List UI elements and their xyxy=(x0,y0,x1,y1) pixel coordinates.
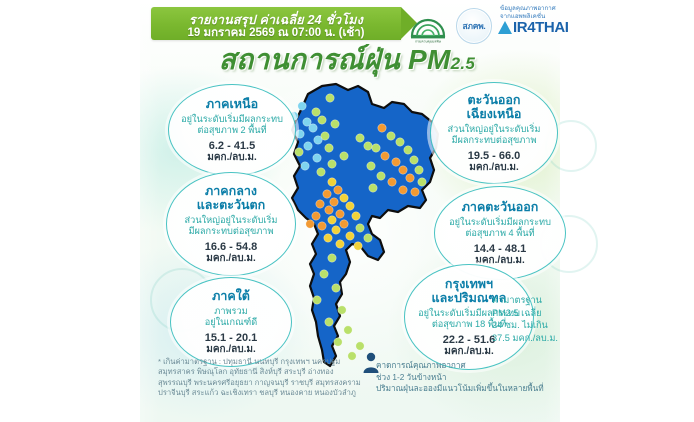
air4thai-triangle-icon xyxy=(498,21,512,34)
footer-right-line2: ช่วง 1-2 วันข้างหน้า xyxy=(376,372,591,384)
region-desc-east-line2: ต่อสุขภาพ 4 พื้นที่ xyxy=(465,228,534,240)
region-value-north: 6.2 - 41.5 xyxy=(209,140,255,153)
station-dot xyxy=(367,162,375,170)
region-value-south: 15.1 - 20.1 xyxy=(205,332,258,345)
station-dot xyxy=(320,270,328,278)
station-dot xyxy=(334,338,342,346)
region-title-bangkok-line1: กรุงเทพฯ xyxy=(445,277,493,291)
station-dot xyxy=(318,116,326,124)
station-dot xyxy=(344,326,352,334)
station-dot xyxy=(410,156,418,164)
station-dot xyxy=(372,144,380,152)
region-bubble-south[interactable]: ภาคใต้ ภาพรวม อยู่ในเกณฑ์ดี 15.1 - 20.1 … xyxy=(170,277,292,367)
region-title-northeast-line1: ตะวันออก xyxy=(468,93,521,107)
region-title-central-west-line1: ภาคกลาง xyxy=(205,184,257,198)
station-dot xyxy=(346,202,354,210)
region-bubble-central-west[interactable]: ภาคกลาง และตะวันตก ส่วนใหญ่อยู่ในระดับเร… xyxy=(166,172,296,276)
station-dot xyxy=(313,154,321,162)
region-bubble-northeast[interactable]: ตะวันออก เฉียงเหนือ ส่วนใหญ่อยู่ในระดับเ… xyxy=(430,82,558,184)
station-dot xyxy=(323,190,331,198)
standard-note: ค่ามาตรฐาน PM2.5 เฉลี่ย 24 ซม. ไม่เกิน 3… xyxy=(492,294,604,344)
station-dot xyxy=(406,174,414,182)
region-desc-central-west-line1: ส่วนใหญ่อยู่ในระดับเริ่ม xyxy=(185,215,278,227)
station-dot xyxy=(396,138,404,146)
station-dot xyxy=(325,206,333,214)
title-pm-text: PM xyxy=(408,44,451,75)
air4thai-brand-text: IR4THAI xyxy=(513,20,569,36)
station-dot xyxy=(356,224,364,232)
footer-left-line4: ปราจีนบุรี สระแก้ว ฉะเชิงเทรา ชลบุรี หนอ… xyxy=(158,388,378,398)
station-dot xyxy=(328,216,336,224)
station-dot xyxy=(387,132,395,140)
station-dot xyxy=(364,142,372,150)
region-desc-south-line2: อยู่ในเกณฑ์ดี xyxy=(205,317,258,329)
footer-exceedance-note: * เกินค่ามาตรฐาน : ปทุมธานี นนทบุรี กรุง… xyxy=(158,357,378,399)
footer-right-line1: คาดการณ์คุณภาพอากาศ xyxy=(376,360,591,372)
station-dot xyxy=(399,166,407,174)
region-value-bangkok: 22.2 - 51.6 xyxy=(443,334,496,347)
station-dot xyxy=(377,172,385,180)
station-dot xyxy=(313,296,321,304)
infographic-canvas: รายงานสรุป ค่าเฉลี่ย 24 ชั่วโมง 19 มกราค… xyxy=(0,0,694,422)
station-dot xyxy=(340,152,348,160)
footer-right-line3: ปริมาณฝุ่นละอองมีแนวโน้มเพิ่มขึ้นในหลายพ… xyxy=(376,383,591,395)
station-dot xyxy=(312,212,320,220)
station-dot xyxy=(356,342,364,350)
station-dot xyxy=(336,210,344,218)
station-dot xyxy=(369,184,377,192)
region-title-central-west-line2: และตะวันตก xyxy=(197,198,266,212)
region-title-northeast-line2: เฉียงเหนือ xyxy=(467,107,522,121)
footer-forecast-note: คาดการณ์คุณภาพอากาศ ช่วง 1-2 วันข้างหน้า… xyxy=(376,360,591,395)
station-dot xyxy=(332,284,340,292)
station-dot xyxy=(317,168,325,176)
station-dot xyxy=(325,144,333,152)
standard-note-line3: 24 ซม. ไม่เกิน xyxy=(492,319,604,332)
station-dot xyxy=(314,136,322,144)
region-desc-central-west-line2: มีผลกระทบต่อสุขภาพ xyxy=(188,226,273,238)
station-dot xyxy=(346,232,354,240)
region-desc-northeast-line2: มีผลกระทบต่อสุขภาพ xyxy=(451,135,536,147)
station-dot xyxy=(328,160,336,168)
station-dot xyxy=(309,124,317,132)
station-dot xyxy=(356,134,364,142)
region-title-north: ภาคเหนือ xyxy=(206,97,258,111)
region-unit-north: มคก./ลบ.ม. xyxy=(207,152,257,164)
title-pm-subscript: 2.5 xyxy=(451,54,476,73)
station-dot xyxy=(332,226,340,234)
region-value-northeast: 19.5 - 66.0 xyxy=(468,150,521,163)
station-dot xyxy=(399,186,407,194)
station-dot xyxy=(318,222,326,230)
region-desc-east-line1: อยู่ในระดับเริ่มมีผลกระทบ xyxy=(449,217,551,229)
station-dot xyxy=(364,234,372,242)
station-dot xyxy=(304,142,312,150)
standard-note-line4: 37.5 มคก./ลบ.ม. xyxy=(492,332,604,345)
region-unit-south: มคก./ลบ.ม. xyxy=(206,344,256,356)
station-dot xyxy=(301,162,309,170)
station-dot xyxy=(340,220,348,228)
station-dot xyxy=(338,306,346,314)
header: รายงานสรุป ค่าเฉลี่ย 24 ชั่วโมง 19 มกราค… xyxy=(0,0,694,46)
air4thai-wordmark: IR4THAI xyxy=(498,20,590,36)
region-desc-south-line1: ภาพรวม xyxy=(214,306,247,318)
station-dot xyxy=(415,166,423,174)
station-dot xyxy=(328,254,336,262)
footer-left-line3: สุพรรณบุรี พระนครศรีอยุธยา กาญจนบุรี ราช… xyxy=(158,378,378,388)
station-dot xyxy=(381,152,389,160)
station-dot xyxy=(312,108,320,116)
station-dot xyxy=(306,220,314,228)
region-title-south: ภาคใต้ xyxy=(212,289,250,303)
region-title-east: ภาคตะวันออก xyxy=(462,200,539,214)
station-dot xyxy=(325,318,333,326)
report-banner: รายงานสรุป ค่าเฉลี่ย 24 ชั่วโมง 19 มกราค… xyxy=(151,7,401,40)
region-bubble-north[interactable]: ภาคเหนือ อยู่ในระดับเริ่มมีผลกระทบ ต่อสุ… xyxy=(168,84,296,176)
station-dot xyxy=(330,198,338,206)
footer-left-line2: สมุทรสาคร พิษณุโลก อุทัยธานี สิงห์บุรี ส… xyxy=(158,367,378,377)
station-dot xyxy=(324,234,332,242)
region-desc-north-line1: อยู่ในระดับเริ่มมีผลกระทบ xyxy=(181,114,283,126)
station-dot xyxy=(334,186,342,194)
region-unit-central-west: มคก./ลบ.ม. xyxy=(206,253,256,265)
station-dot xyxy=(298,102,306,110)
station-dot xyxy=(316,200,324,208)
station-dot xyxy=(404,146,412,154)
station-dot xyxy=(388,178,396,186)
station-dot xyxy=(336,240,344,248)
standard-note-line1: ค่ามาตรฐาน xyxy=(492,294,604,307)
station-dot xyxy=(340,194,348,202)
region-desc-north-line2: ต่อสุขภาพ 2 พื้นที่ xyxy=(197,125,266,137)
station-dot xyxy=(392,158,400,166)
station-dot xyxy=(295,148,303,156)
station-dot xyxy=(296,130,304,138)
station-dot xyxy=(326,94,334,102)
footer-left-line1: * เกินค่ามาตรฐาน : ปทุมธานี นนทบุรี กรุง… xyxy=(158,357,378,367)
station-dot xyxy=(331,120,339,128)
air4thai-logo: ข้อมูลคุณภาพอากาศ จากแอพพลิเคชั่น IR4THA… xyxy=(498,5,590,36)
page-title: สถานการณ์ฝุ่น PM2.5 xyxy=(0,38,694,82)
air4thai-tagline-line1: ข้อมูลคุณภาพอากาศ xyxy=(498,5,590,13)
station-dot xyxy=(411,188,419,196)
station-dot xyxy=(352,212,360,220)
title-main-text: สถานการณ์ฝุ่น xyxy=(219,44,400,75)
standard-note-line2: PM2.5 เฉลี่ย xyxy=(492,307,604,320)
region-value-east: 14.4 - 48.1 xyxy=(474,243,527,256)
region-unit-northeast: มคก./ลบ.ม. xyxy=(469,162,519,174)
region-desc-northeast-line1: ส่วนใหญ่อยู่ในระดับเริ่ม xyxy=(448,124,541,136)
station-dot xyxy=(328,178,336,186)
station-dot xyxy=(378,124,386,132)
station-dot xyxy=(418,178,426,186)
station-dot xyxy=(354,242,362,250)
region-value-central-west: 16.6 - 54.8 xyxy=(205,241,258,254)
region-unit-bangkok: มคก./ลบ.ม. xyxy=(444,346,494,358)
